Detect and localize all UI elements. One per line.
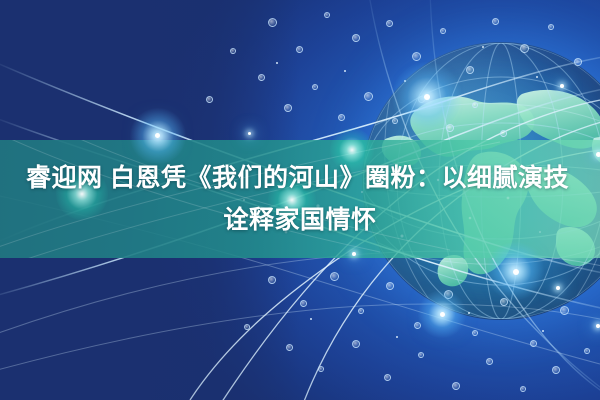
- banner-image: 睿迎网 白恩凭《我们的河山》圈粉：以细腻演技 诠释家国情怀: [0, 0, 600, 400]
- headline-line-2: 诠释家国情怀: [0, 199, 600, 241]
- headline-line-1: 睿迎网 白恩凭《我们的河山》圈粉：以细腻演技: [0, 157, 600, 199]
